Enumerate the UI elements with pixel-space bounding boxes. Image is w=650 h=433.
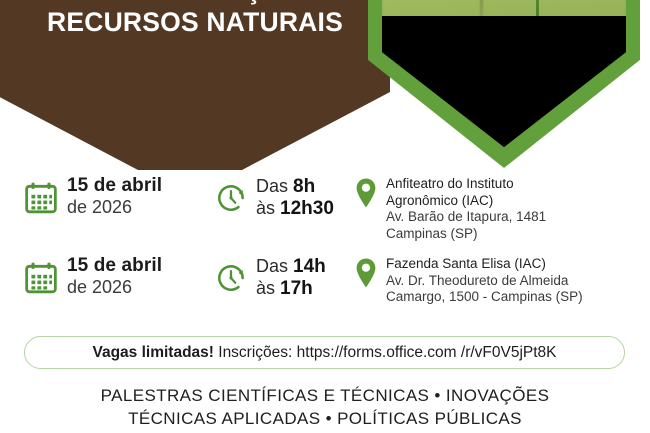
hero-shield [360, 0, 650, 170]
time-prefix-das: Das [256, 256, 293, 276]
session-date: 15 de abril de 2026 [24, 256, 214, 299]
time-prefix-das: Das [256, 176, 293, 196]
time-start: 8h [293, 176, 315, 197]
address-line-2: Camargo, 1500 - Campinas (SP) [386, 289, 583, 304]
registration-pill[interactable]: Vagas limitadas! Inscrições: https://for… [24, 336, 625, 369]
session-date: 15 de abril de 2026 [24, 176, 214, 219]
time-end: 12h30 [280, 198, 334, 219]
venue-line-2: Agronômico (IAC) [386, 193, 493, 208]
date-line-2: de 2026 [67, 197, 132, 217]
title-word-de: DE [303, 0, 348, 5]
time-prefix-as: às [256, 198, 280, 218]
map-pin-icon [354, 177, 378, 209]
time-line-1: Das 14h [256, 256, 326, 276]
location-text: Anfiteatro do Instituto Agronômico (IAC)… [386, 176, 546, 242]
calendar-icon [24, 261, 58, 295]
session-list: 15 de abril de 2026 Das 8h às 12 [0, 176, 650, 316]
time-line-1: Das 8h [256, 176, 315, 196]
title-word-protecao: PROTEÇÃO [151, 0, 303, 5]
soil-trickle [480, 0, 483, 16]
time-start: 14h [293, 256, 326, 277]
registration-url[interactable]: https://forms.office.com /r/vF0V5jPt8K [297, 344, 557, 361]
date-line-1: 15 de abril [67, 175, 162, 196]
clock-icon [214, 181, 248, 215]
session-row: 15 de abril de 2026 Das 14h às 1 [0, 256, 650, 306]
event-flyer: SOLO E PROTEÇÃO DE RECURSOS NATURAIS [0, 0, 650, 433]
registration-text: Vagas limitadas! Inscrições: https://for… [92, 344, 556, 362]
address-line-1: Av. Barão de Itapura, 1481 [386, 209, 546, 224]
registration-highlight: Vagas limitadas! [92, 344, 213, 361]
time-line-2: às 17h [256, 278, 313, 298]
location-text: Fazenda Santa Elisa (IAC) Av. Dr. Theodu… [386, 256, 583, 306]
footer-line-2: TÉCNICAS APLICADAS • POLÍTICAS PÚBLICAS [0, 407, 650, 430]
time-end: 17h [280, 278, 313, 299]
time-prefix-as: às [256, 278, 280, 298]
clock-icon [214, 261, 248, 295]
title-line-2: RECURSOS NATURAIS [6, 6, 384, 38]
session-date-text: 15 de abril de 2026 [67, 176, 162, 219]
calendar-icon [24, 181, 58, 215]
registration-label: Inscrições: [214, 344, 297, 361]
address-line-1: Av. Dr. Theodureto de Almeida [386, 273, 568, 288]
title-word-e: E [118, 0, 151, 5]
venue-line-1: Fazenda Santa Elisa (IAC) [386, 256, 546, 271]
session-row: 15 de abril de 2026 Das 8h às 12 [0, 176, 650, 242]
footer-line-1: PALESTRAS CIENTÍFICAS E TÉCNICAS • INOVA… [0, 384, 650, 407]
session-time-text: Das 8h às 12h30 [256, 176, 334, 220]
session-time: Das 8h às 12h30 [214, 176, 354, 220]
footer-topics: PALESTRAS CIENTÍFICAS E TÉCNICAS • INOVA… [0, 384, 650, 430]
session-location: Anfiteatro do Instituto Agronômico (IAC)… [354, 176, 650, 242]
venue-line-1: Anfiteatro do Instituto [386, 176, 514, 191]
address-line-2: Campinas (SP) [386, 226, 478, 241]
time-line-2: às 12h30 [256, 198, 334, 218]
session-time-text: Das 14h às 17h [256, 256, 326, 300]
title-word-solo: SOLO [42, 0, 118, 5]
shield-photo-clip [382, 0, 626, 147]
seedling-photo [382, 0, 626, 147]
map-pin-icon [354, 257, 378, 289]
session-location: Fazenda Santa Elisa (IAC) Av. Dr. Theodu… [354, 256, 650, 306]
date-line-2: de 2026 [67, 277, 132, 297]
session-time: Das 14h às 17h [214, 256, 354, 300]
page-title: SOLO E PROTEÇÃO DE RECURSOS NATURAIS [0, 0, 390, 38]
session-date-text: 15 de abril de 2026 [67, 256, 162, 299]
date-line-1: 15 de abril [67, 255, 162, 276]
